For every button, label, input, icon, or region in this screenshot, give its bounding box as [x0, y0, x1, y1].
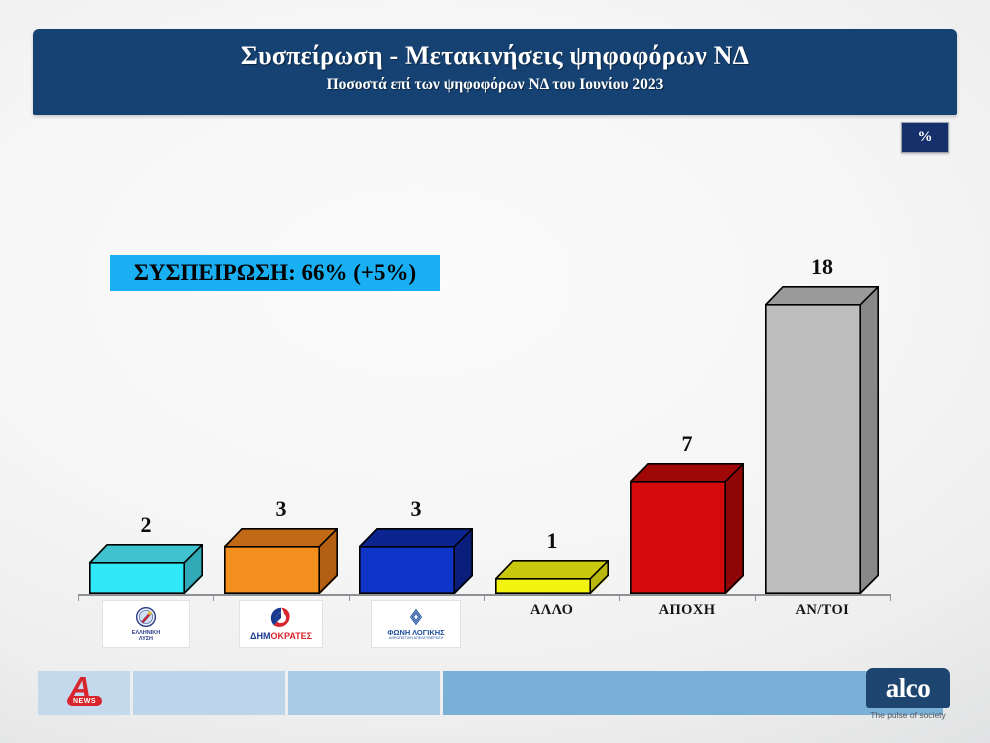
bar-top-face [359, 528, 473, 546]
bar-front-face [224, 546, 320, 594]
foni-logikis-tagline: ΑΘΡΩΠΙΣΤΙΚΗ ΑΠΕΛΕΥΘΕΡΩΣΗ [389, 637, 443, 641]
bar-front-face [359, 546, 455, 594]
bar-front-face [630, 481, 726, 594]
axis-tick [619, 594, 620, 601]
dimokrates-circle-icon [269, 606, 293, 630]
bar-4: 1 [495, 520, 609, 594]
slide-canvas: Συσπείρωση - Μετακινήσεις ψηφοφόρων ΝΔ Π… [0, 0, 990, 743]
xlabel-6: ΑΝ/ΤΟΙ [755, 602, 890, 619]
bar-front-face [765, 304, 861, 594]
elliniki-lysi-emblem-icon [135, 606, 157, 628]
chart-plot-area: 2331718 ΕΛΛΗΝΙΚΗΛΥΣΗΔΗΜΟΚΡΑΤΕΣΦΩΝΗ ΛΟΓΙΚ… [0, 0, 990, 743]
bar-top-face [765, 286, 879, 304]
footer-segment-1: ANEWS [38, 671, 130, 715]
alco-logo: alco [866, 668, 950, 708]
bar-6: 18 [765, 246, 879, 594]
bar-value-label: 2 [89, 512, 203, 538]
bar-value-label: 3 [359, 496, 473, 522]
bar-side-face [726, 463, 744, 594]
anews-badge: NEWS [67, 696, 102, 706]
bar-top-face [224, 528, 338, 546]
foni-logikis-diamond-icon [406, 607, 426, 627]
bar-1: 2 [89, 504, 203, 594]
anews-logo: ANEWS [61, 674, 107, 712]
bar-top-face [630, 463, 744, 481]
party-logo-2: ΔΗΜΟΚΡΑΤΕΣ [239, 600, 323, 648]
bar-value-label: 18 [765, 254, 879, 280]
bar-side-face [861, 286, 879, 594]
xlabel-5: ΑΠΟΧΗ [619, 602, 754, 619]
footer-segment-3 [288, 671, 440, 715]
bar-5: 7 [630, 423, 744, 594]
party-logo-1: ΕΛΛΗΝΙΚΗΛΥΣΗ [102, 600, 190, 648]
footer-bar: ANEWS [38, 671, 950, 715]
axis-tick [78, 594, 79, 601]
axis-tick [213, 594, 214, 601]
bar-top-face [495, 560, 609, 578]
bar-3: 3 [359, 488, 473, 594]
xlabel-4: ΑΛΛΟ [484, 602, 619, 619]
bar-value-label: 1 [495, 528, 609, 554]
dimokrates-label: ΔΗΜΟΚΡΑΤΕΣ [250, 632, 312, 641]
axis-tick [349, 594, 350, 601]
bar-front-face [89, 562, 185, 594]
bar-front-face [495, 578, 591, 594]
elliniki-lysi-label: ΕΛΛΗΝΙΚΗΛΥΣΗ [132, 631, 160, 643]
alco-tagline: The pulse of society [866, 710, 950, 720]
axis-tick [755, 594, 756, 601]
footer-segment-2 [133, 671, 285, 715]
axis-tick [890, 594, 891, 601]
bar-value-label: 3 [224, 496, 338, 522]
party-logo-3: ΦΩΝΗ ΛΟΓΙΚΗΣΑΘΡΩΠΙΣΤΙΚΗ ΑΠΕΛΕΥΘΕΡΩΣΗ [371, 600, 461, 648]
bar-value-label: 7 [630, 431, 744, 457]
axis-tick [484, 594, 485, 601]
alco-logo-text: alco [886, 673, 931, 704]
bar-2: 3 [224, 488, 338, 594]
bar-top-face [89, 544, 203, 562]
